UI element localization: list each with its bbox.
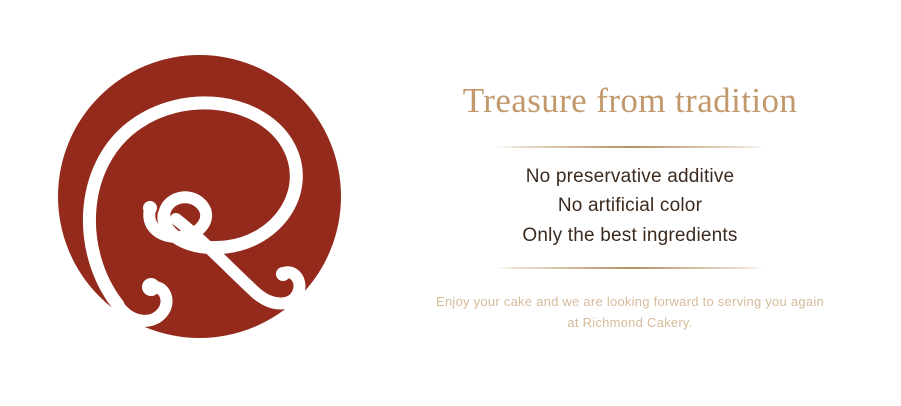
thank-you-note-line-2: at Richmond Cakery. [400, 312, 860, 333]
claim-item: No artificial color [400, 191, 860, 220]
page-title: Treasure from tradition [400, 60, 860, 122]
brand-logo [58, 55, 341, 338]
claim-item: Only the best ingredients [400, 221, 860, 250]
cakery-monogram-icon [58, 55, 341, 338]
claim-item: No preservative additive [400, 162, 860, 191]
claims-list: No preservative additive No artificial c… [400, 148, 860, 250]
message-panel: Treasure from tradition No preservative … [400, 60, 860, 333]
thank-you-note: Enjoy your cake and we are looking forwa… [400, 269, 860, 333]
thank-you-note-line-1: Enjoy your cake and we are looking forwa… [400, 291, 860, 312]
promo-card: Treasure from tradition No preservative … [0, 0, 901, 406]
